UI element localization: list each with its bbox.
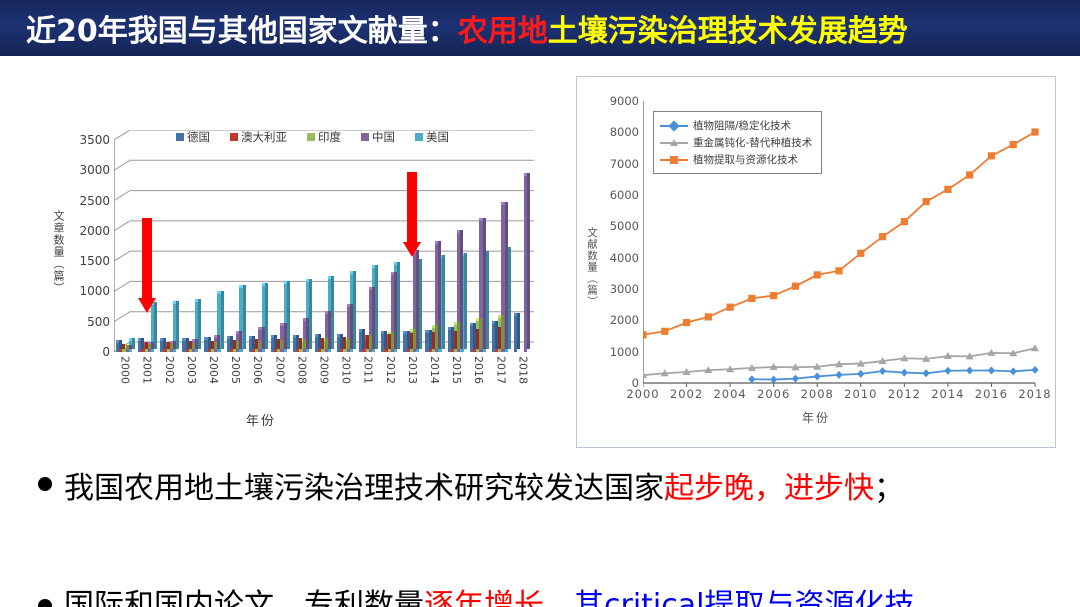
series-marker-0 <box>1031 366 1038 374</box>
bar-德国-2005 <box>227 339 230 352</box>
x-tick-label: 2000 <box>626 387 659 401</box>
title-part-3: 土壤污染治理技术发展趋势 <box>548 14 908 49</box>
y-tick-label: 6000 <box>610 188 639 202</box>
x-tick-label: 2001 <box>141 356 154 384</box>
y-tick-label: 9000 <box>610 94 639 108</box>
series-marker-2 <box>814 271 821 278</box>
x-tick-label: 2018 <box>1018 387 1051 401</box>
y-tick-label: 7000 <box>610 157 639 171</box>
bullet-segment-2: 增长 <box>484 588 544 607</box>
bullet-segment-1: 起步晚，进步快 <box>664 471 874 506</box>
series-marker-0 <box>988 366 995 374</box>
bar-德国-2012 <box>381 334 384 352</box>
legend-label: 重金属钝化-替代种植技术 <box>693 135 812 150</box>
x-tick-label: 2009 <box>318 356 331 384</box>
series-marker-2 <box>923 198 930 205</box>
x-tick-label: 2013 <box>406 356 419 384</box>
bar-chart-y-axis-ticks: 0500100015002000250030003500 <box>64 140 110 350</box>
x-tick-label: 2012 <box>888 387 921 401</box>
bar-chart-x-axis-title: 年份 <box>246 410 276 429</box>
x-tick-label: 2012 <box>384 356 397 384</box>
y-tick-label: 3000 <box>610 282 639 296</box>
x-tick-label: 2008 <box>801 387 834 401</box>
x-tick-label: 2016 <box>472 356 485 384</box>
series-marker-2 <box>770 292 777 299</box>
title-part-2: 农用地 <box>458 14 548 49</box>
line-chart-y-axis-ticks: 0100020003000400050006000700080009000 <box>597 101 639 383</box>
series-marker-0 <box>923 369 930 377</box>
series-marker-2 <box>901 218 908 225</box>
bar-德国-2014 <box>425 333 428 352</box>
series-marker-0 <box>857 370 864 378</box>
series-marker-0 <box>770 376 777 384</box>
bar-德国-2016 <box>470 326 473 352</box>
bullet-dot-icon <box>38 599 52 607</box>
x-tick-label: 2003 <box>185 356 198 384</box>
bullet-text-1: 我国农用地土壤污染治理技术研究较发达国家起步晚，进步快； <box>64 466 904 513</box>
line-chart-x-axis-ticks: 2000200220042006200820102012201420162018 <box>643 387 1035 407</box>
y-tick-label: 3500 <box>79 133 110 147</box>
x-tick-label: 2007 <box>273 356 286 384</box>
series-marker-0 <box>748 375 755 383</box>
bar-德国-2015 <box>448 330 451 352</box>
x-tick-label: 2000 <box>119 356 132 384</box>
series-marker-2 <box>966 171 973 178</box>
bar-德国-2009 <box>315 337 318 352</box>
bar-中国-2018 <box>524 176 527 352</box>
y-tick-label: 2000 <box>610 313 639 327</box>
series-marker-2 <box>857 250 864 257</box>
x-tick-label: 2002 <box>163 356 176 384</box>
legend-line-icon <box>660 121 688 130</box>
bar-chart-plot-area <box>114 140 534 352</box>
title-part-1: 近20年我国与其他国家文献量： <box>26 14 458 49</box>
legend-item-2: 植物提取与资源化技术 <box>660 151 812 168</box>
x-tick-label: 2010 <box>844 387 877 401</box>
list-item: 我国农用地土壤污染治理技术研究较发达国家起步晚，进步快； <box>38 466 1058 513</box>
bullet-segment-2: ； <box>874 471 904 506</box>
series-marker-2 <box>661 328 668 335</box>
legend-label: 植物提取与资源化技术 <box>693 152 798 167</box>
y-tick-label: 500 <box>87 315 110 329</box>
x-tick-label: 2014 <box>428 356 441 384</box>
page-title: 近20年我国与其他国家文献量：农用地土壤污染治理技术发展趋势 <box>0 6 908 50</box>
series-marker-2 <box>988 152 995 159</box>
series-marker-2 <box>944 186 951 193</box>
series-marker-0 <box>879 367 886 375</box>
y-tick-label: 3000 <box>79 163 110 177</box>
series-marker-2 <box>643 331 647 338</box>
bullet-list: 我国农用地土壤污染治理技术研究较发达国家起步晚，进步快； <box>38 466 1058 513</box>
bullet-dot-icon <box>38 477 52 491</box>
legend-item-1: 重金属钝化-替代种植技术 <box>660 134 812 151</box>
bar-德国-2011 <box>359 332 362 352</box>
bar-德国-2004 <box>204 340 207 352</box>
line-chart-technologies: 文献数量（篇） 01000200030004000500060007000800… <box>576 76 1056 448</box>
series-marker-2 <box>792 283 799 290</box>
series-marker-2 <box>879 233 886 240</box>
y-tick-label: 1500 <box>79 254 110 268</box>
bullet-segment-0: 国际和国内论文、专利数量 <box>64 588 424 607</box>
bullet-segment-1: 逐年 <box>424 588 484 607</box>
series-marker-0 <box>901 369 908 377</box>
annotation-arrow-2001 <box>138 218 156 313</box>
legend-item-0: 植物阻隔/稳定化技术 <box>660 117 812 134</box>
y-tick-label: 8000 <box>610 125 639 139</box>
bar-德国-2003 <box>182 341 185 352</box>
bar-德国-2013 <box>403 334 406 352</box>
y-tick-label: 1000 <box>79 284 110 298</box>
series-marker-2 <box>683 319 690 326</box>
legend-line-icon <box>660 155 688 164</box>
x-tick-label: 2017 <box>494 356 507 384</box>
list-item-partial: 国际和国内论文、专利数量逐年增长，其critical提取与资源化技 <box>38 588 1058 607</box>
x-tick-label: 2016 <box>975 387 1008 401</box>
bar-德国-2017 <box>492 324 495 352</box>
x-tick-label: 2010 <box>340 356 353 384</box>
y-tick-label: 0 <box>102 345 110 359</box>
series-marker-0 <box>966 366 973 374</box>
y-tick-label: 4000 <box>610 251 639 265</box>
series-marker-0 <box>1010 367 1017 375</box>
bar-德国-2006 <box>249 339 252 352</box>
x-tick-label: 2004 <box>713 387 746 401</box>
legend-line-icon <box>660 138 688 147</box>
series-marker-1 <box>1031 344 1039 351</box>
series-marker-0 <box>835 371 842 379</box>
x-tick-label: 2008 <box>295 356 308 384</box>
series-marker-2 <box>1010 141 1017 148</box>
series-marker-2 <box>705 313 712 320</box>
slide-title-bar: 近20年我国与其他国家文献量：农用地土壤污染治理技术发展趋势 <box>0 0 1080 56</box>
list-item: 国际和国内论文、专利数量逐年增长，其critical提取与资源化技 <box>38 588 1058 607</box>
series-marker-0 <box>792 375 799 383</box>
series-marker-0 <box>814 372 821 380</box>
bar-德国-2010 <box>337 337 340 352</box>
x-tick-label: 2011 <box>362 356 375 384</box>
y-tick-label: 5000 <box>610 219 639 233</box>
annotation-arrow-2013 <box>403 172 421 257</box>
series-marker-2 <box>835 267 842 274</box>
bar-chart-countries: 德国澳大利亚印度中国美国 文章数量（篇） 0500100015002000250… <box>46 110 566 430</box>
legend-label: 植物阻隔/稳定化技术 <box>693 118 791 133</box>
bullet-segment-0: 我国农用地土壤污染治理技术研究较发达国家 <box>64 471 664 506</box>
bullet-segment-3: ，其critical提取与资源化技 <box>544 588 914 607</box>
series-marker-2 <box>727 304 734 311</box>
series-marker-0 <box>944 367 951 375</box>
bullet-text-2: 国际和国内论文、专利数量逐年增长，其critical提取与资源化技 <box>64 588 914 607</box>
x-tick-label: 2014 <box>931 387 964 401</box>
bar-德国-2018 <box>514 316 517 352</box>
bar-德国-2007 <box>271 338 274 352</box>
x-tick-label: 2002 <box>670 387 703 401</box>
series-marker-2 <box>748 295 755 302</box>
y-tick-label: 2500 <box>79 194 110 208</box>
bar-德国-2002 <box>160 341 163 352</box>
line-chart-legend: 植物阻隔/稳定化技术重金属钝化-替代种植技术植物提取与资源化技术 <box>653 111 822 174</box>
x-tick-label: 2004 <box>207 356 220 384</box>
y-tick-label: 1000 <box>610 345 639 359</box>
x-tick-label: 2015 <box>450 356 463 384</box>
bar-德国-2000 <box>116 343 119 352</box>
x-tick-label: 2006 <box>251 356 264 384</box>
x-tick-label: 2005 <box>229 356 242 384</box>
x-tick-label: 2018 <box>516 356 529 384</box>
y-tick-label: 2000 <box>79 224 110 238</box>
bar-德国-2001 <box>138 341 141 352</box>
x-tick-label: 2006 <box>757 387 790 401</box>
bar-德国-2008 <box>293 338 296 352</box>
bar-chart-x-axis-ticks: 2000200120022003200420052006200720082009… <box>114 356 534 412</box>
series-marker-2 <box>1031 128 1038 135</box>
line-chart-x-axis-title: 年份 <box>577 409 1055 426</box>
